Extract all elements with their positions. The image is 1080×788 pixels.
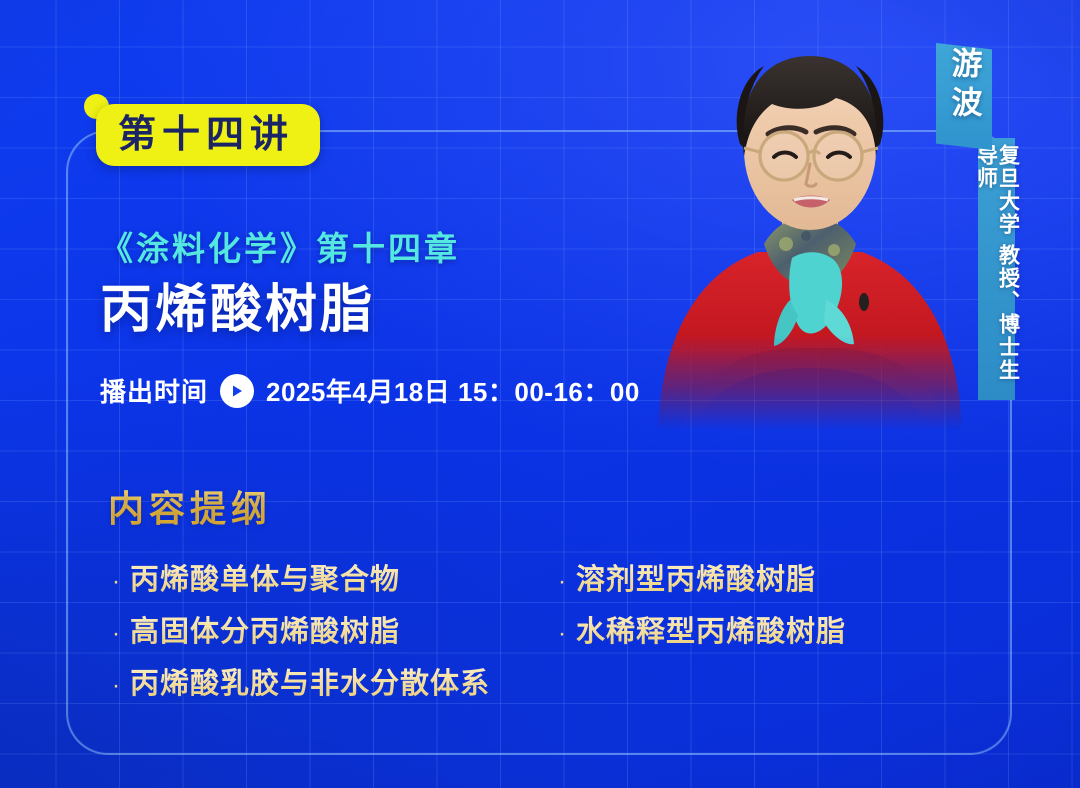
speaker-name: 游波	[949, 47, 980, 125]
list-item-label: 水稀释型丙烯酸树脂	[576, 608, 846, 650]
bullet-icon: ·	[558, 570, 566, 594]
outline-column-left: · 丙烯酸单体与聚合物 · 高固体分丙烯酸树脂 · 丙烯酸乳胶与非水分散体系	[112, 556, 542, 712]
play-circle-icon[interactable]	[220, 374, 254, 408]
bullet-icon: ·	[112, 622, 120, 646]
list-item-label: 丙烯酸单体与聚合物	[130, 556, 400, 598]
list-item-label: 丙烯酸乳胶与非水分散体系	[130, 660, 490, 702]
bullet-icon: ·	[558, 622, 566, 646]
lecture-number-badge: 第十四讲	[96, 104, 320, 166]
list-item-label: 溶剂型丙烯酸树脂	[576, 556, 816, 598]
speaker-name-ribbon: 游波	[936, 43, 992, 150]
list-item-label: 高固体分丙烯酸树脂	[130, 608, 400, 650]
page-title: 丙烯酸树脂	[100, 281, 460, 339]
airtime-row: 播出时间 2025年4月18日 15：00-16：00	[100, 372, 640, 409]
speaker-photo	[640, 0, 980, 430]
lecture-poster: 游波 复旦大学 教授、博士生导师 第十四讲 《涂料化学》第十四章 丙烯酸树脂 播…	[0, 0, 1080, 788]
list-item: · 溶剂型丙烯酸树脂	[558, 556, 948, 608]
outline-heading: 内容提纲	[108, 480, 272, 532]
list-item: · 高固体分丙烯酸树脂	[112, 608, 542, 660]
outline-columns: · 丙烯酸单体与聚合物 · 高固体分丙烯酸树脂 · 丙烯酸乳胶与非水分散体系 ·…	[112, 556, 952, 712]
list-item: · 水稀释型丙烯酸树脂	[558, 608, 948, 660]
list-item: · 丙烯酸乳胶与非水分散体系	[112, 660, 542, 712]
outline-column-right: · 溶剂型丙烯酸树脂 · 水稀释型丙烯酸树脂	[558, 556, 948, 712]
airtime-value: 2025年4月18日 15：00-16：00	[266, 372, 640, 409]
course-subtitle: 《涂料化学》第十四章	[100, 228, 460, 269]
list-item: · 丙烯酸单体与聚合物	[112, 556, 542, 608]
speaker-credentials: 复旦大学 教授、博士生导师	[974, 144, 1018, 400]
speaker-credentials-ribbon: 复旦大学 教授、博士生导师	[978, 138, 1015, 400]
airtime-label: 播出时间	[100, 372, 208, 409]
bullet-icon: ·	[112, 570, 120, 594]
bullet-icon: ·	[112, 674, 120, 698]
headline-block: 《涂料化学》第十四章 丙烯酸树脂	[100, 228, 460, 339]
lecture-number-label: 第十四讲	[118, 116, 294, 154]
